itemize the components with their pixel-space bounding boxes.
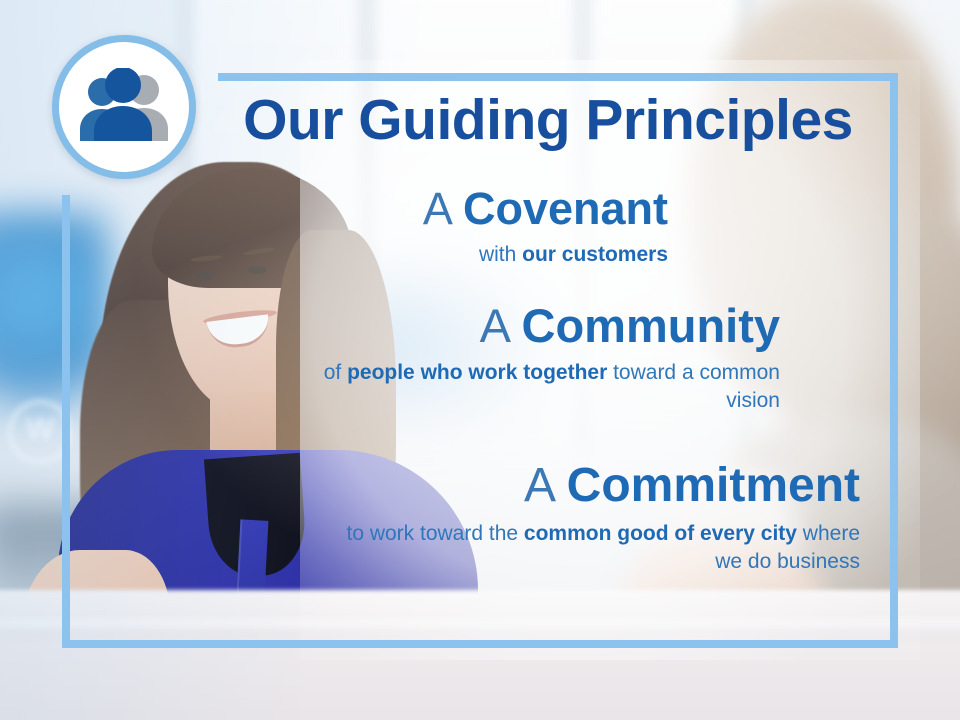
white-desk bbox=[0, 590, 960, 720]
subtext-emphasis: common good of every city bbox=[524, 522, 797, 545]
principle-word: Covenant bbox=[463, 183, 668, 234]
subtext-emphasis: people who work together bbox=[347, 361, 607, 384]
page-title: Our Guiding Principles bbox=[218, 92, 878, 149]
people-group-icon bbox=[72, 68, 176, 146]
subtext-lead: of bbox=[324, 361, 347, 384]
subtext-lead: with bbox=[479, 243, 522, 266]
principle-article: A bbox=[423, 183, 451, 234]
subtext-emphasis: our customers bbox=[522, 243, 668, 266]
subtext-tail: toward a common vision bbox=[607, 361, 780, 412]
principle-word: Community bbox=[522, 299, 781, 352]
principle-covenant: A Covenant with our customers bbox=[238, 186, 668, 269]
subtext-lead: to work toward the bbox=[346, 522, 523, 545]
principle-article: A bbox=[480, 299, 509, 352]
principle-subtext: with our customers bbox=[238, 241, 668, 269]
principle-lede: A Community bbox=[300, 302, 780, 350]
guiding-principles-banner: W FLOW bbox=[0, 0, 960, 720]
principle-lede: A Covenant bbox=[238, 186, 668, 232]
principle-community: A Community of people who work together … bbox=[300, 302, 780, 416]
desk-edge bbox=[0, 620, 960, 634]
employee-eye bbox=[196, 272, 214, 280]
principle-lede: A Commitment bbox=[330, 462, 860, 511]
principle-subtext: of people who work together toward a com… bbox=[300, 359, 780, 416]
people-group-badge bbox=[52, 35, 196, 179]
principle-commitment: A Commitment to work toward the common g… bbox=[330, 462, 860, 577]
principle-article: A bbox=[524, 459, 553, 512]
principle-subtext: to work toward the common good of every … bbox=[330, 520, 860, 577]
principle-word: Commitment bbox=[567, 459, 860, 512]
